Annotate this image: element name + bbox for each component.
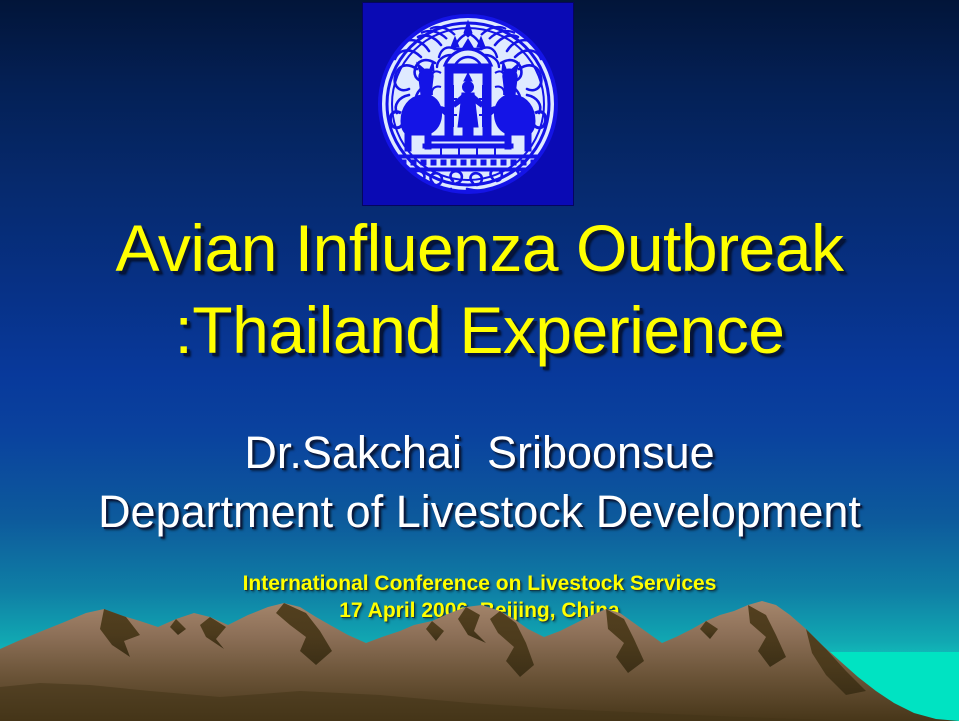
author-organization: Department of Livestock Development: [0, 482, 959, 542]
title-line-2: :Thailand Experience: [0, 289, 959, 371]
presentation-slide: Avian Influenza Outbreak :Thailand Exper…: [0, 0, 959, 721]
slide-author: Dr.Sakchai Sriboonsue Department of Live…: [0, 424, 959, 542]
mountain-range-graphic: [0, 591, 959, 721]
title-line-1: Avian Influenza Outbreak: [0, 207, 959, 289]
author-name: Dr.Sakchai Sriboonsue: [0, 424, 959, 482]
slide-title: Avian Influenza Outbreak :Thailand Exper…: [0, 207, 959, 371]
royal-thai-government-seal-icon: [363, 3, 573, 205]
